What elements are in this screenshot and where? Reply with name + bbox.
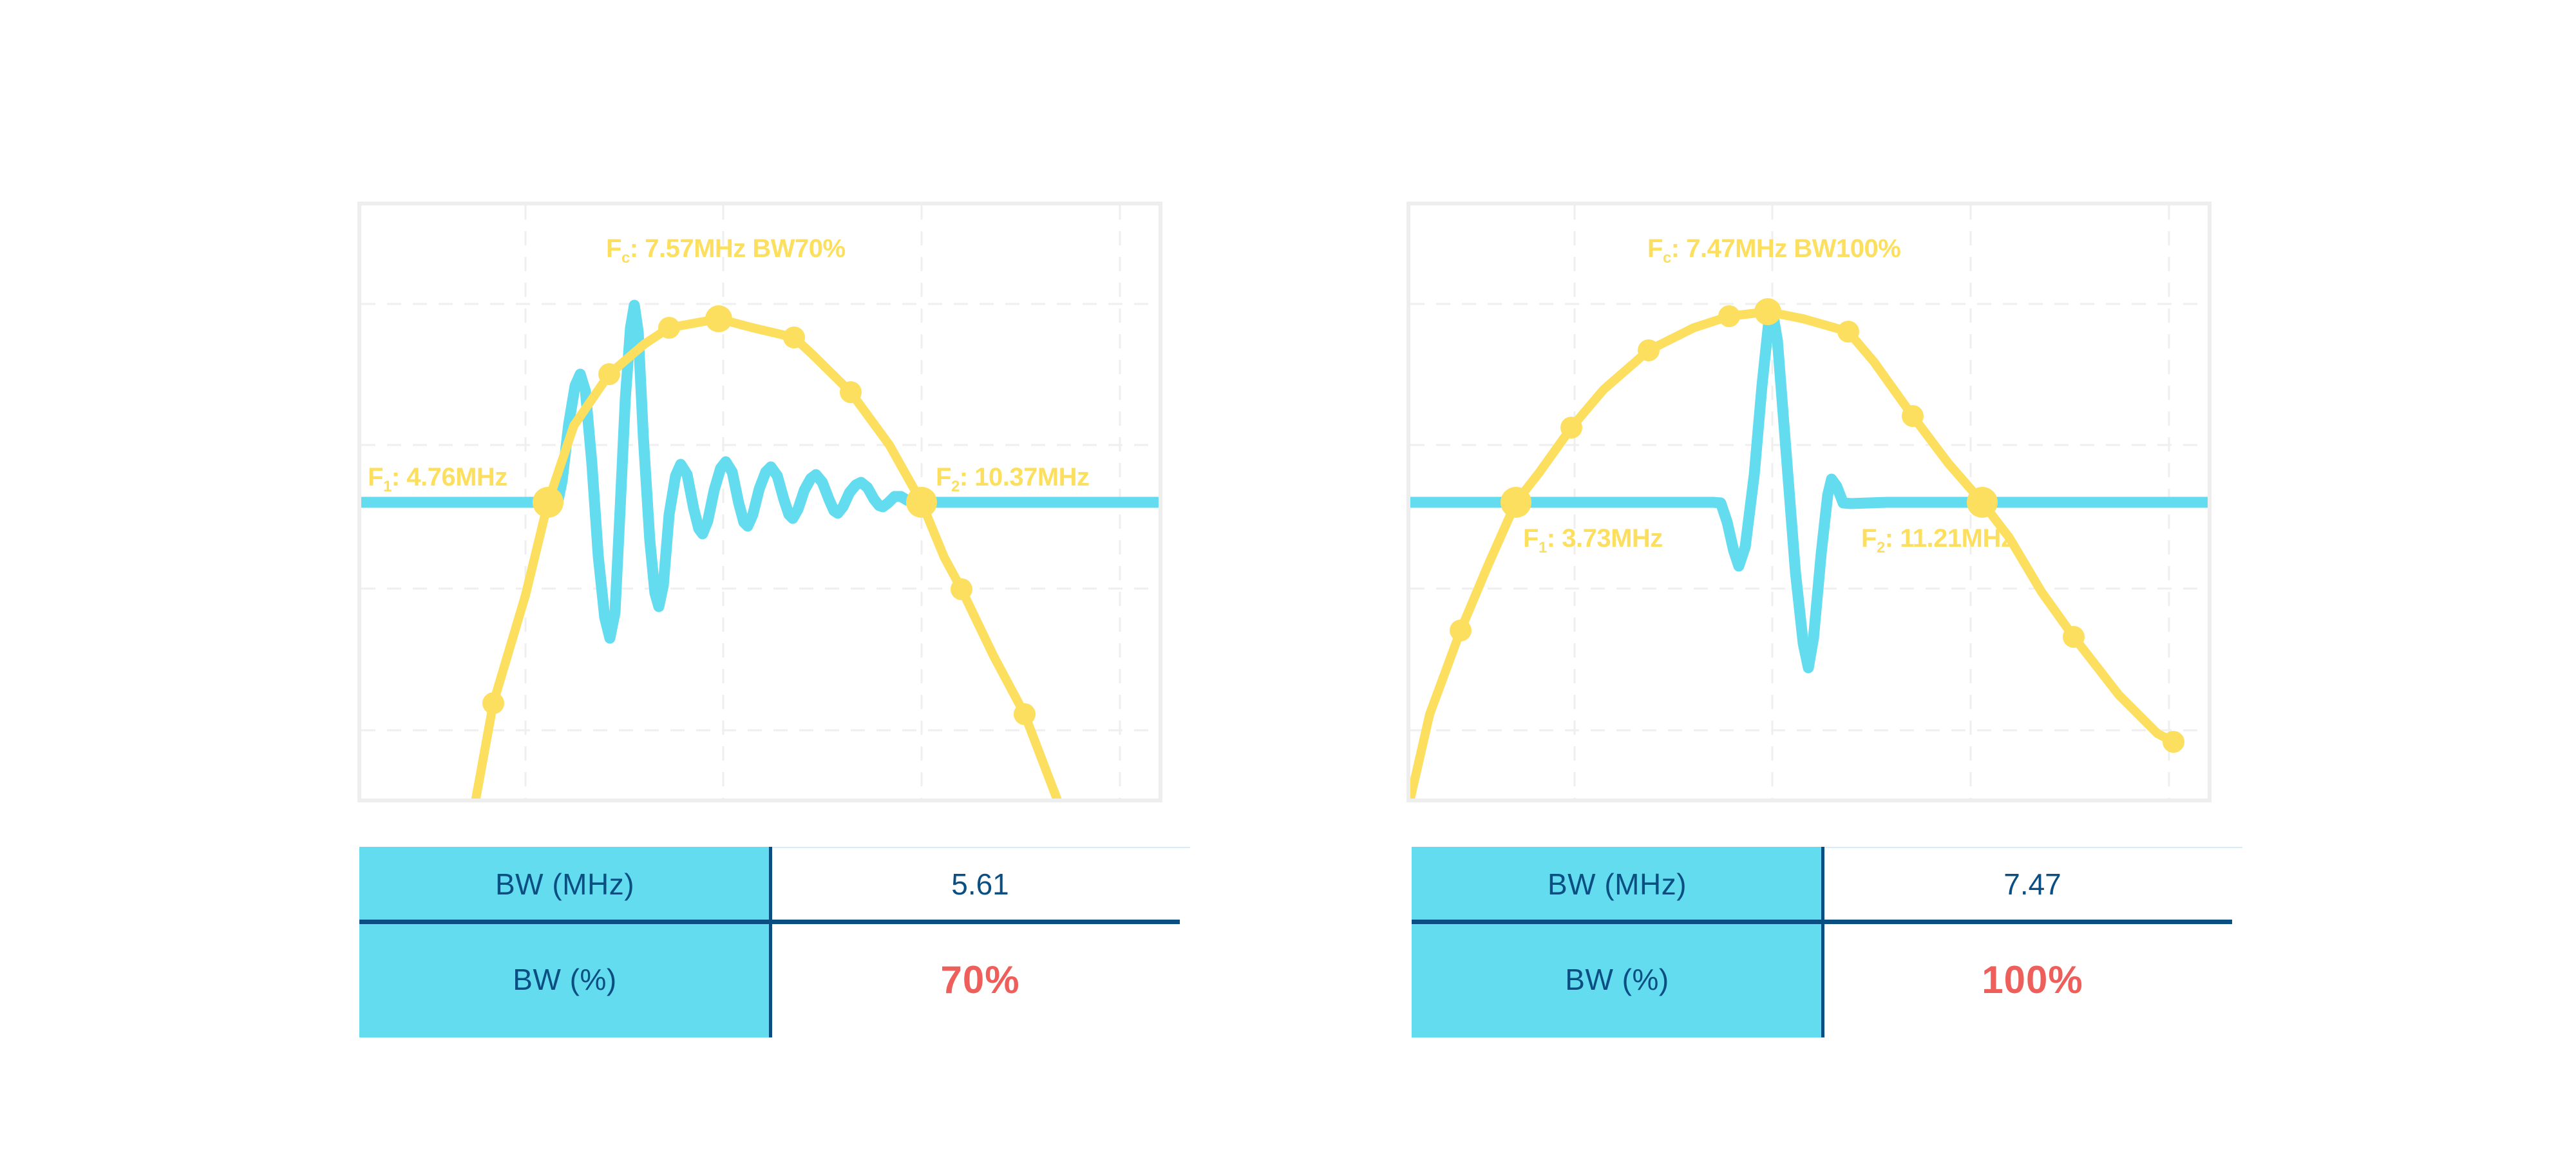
lower-cutoff-text: : 4.76MHz xyxy=(392,463,507,491)
bw-table-right: BW (MHz) 7.47 BW (%) 100% xyxy=(1412,847,2242,1040)
bw-pct-label-cell: BW (%) xyxy=(1412,922,1823,1037)
lower-cutoff-text: : 3.73MHz xyxy=(1547,524,1663,553)
upper-cutoff-label-left: F2: 10.37MHz xyxy=(936,463,1090,496)
table-top-hairline xyxy=(1823,847,2242,848)
lower-cutoff-prefix: F xyxy=(368,463,383,491)
bw-table-left: BW (MHz) 5.61 BW (%) 70% xyxy=(359,847,1190,1040)
bw-pct-label-cell: BW (%) xyxy=(359,922,770,1037)
plot-frame-left: Fc: 7.57MHz BW70% F1: 4.76MHz F2: 10.37M… xyxy=(357,202,1162,802)
bw-mhz-value-cell: 5.61 xyxy=(770,847,1190,922)
upper-cutoff-subscript: 2 xyxy=(1877,539,1885,556)
upper-cutoff-prefix: F xyxy=(1861,524,1877,553)
table-row: BW (%) 70% xyxy=(359,922,1190,1037)
lower-cutoff-subscript: 1 xyxy=(383,478,392,495)
lower-cutoff-label-right: F1: 3.73MHz xyxy=(1523,524,1663,557)
table-row: BW (MHz) 5.61 xyxy=(359,847,1190,922)
bw-mhz-label-cell: BW (MHz) xyxy=(359,847,770,922)
upper-cutoff-label-right: F2: 11.21MHz xyxy=(1861,524,2013,557)
table-row: BW (MHz) 7.47 xyxy=(1412,847,2242,922)
bw-pct-value-cell: 70% xyxy=(770,922,1190,1037)
plot-canvas-left xyxy=(361,205,1159,799)
center-frequency-label-left: Fc: 7.57MHz BW70% xyxy=(606,234,846,267)
center-frequency-prefix: F xyxy=(1647,234,1663,263)
center-frequency-text: : 7.57MHz BW70% xyxy=(630,234,846,263)
center-frequency-prefix: F xyxy=(606,234,621,263)
center-frequency-label-right: Fc: 7.47MHz BW100% xyxy=(1647,234,1900,267)
table-column-separator xyxy=(1821,847,1824,1037)
upper-cutoff-prefix: F xyxy=(936,463,951,491)
bw-mhz-label-cell: BW (MHz) xyxy=(1412,847,1823,922)
plot-canvas-right xyxy=(1410,205,2208,799)
upper-cutoff-text: : 10.37MHz xyxy=(960,463,1090,491)
spectrum-curve-left xyxy=(476,319,1057,799)
lower-cutoff-prefix: F xyxy=(1523,524,1539,553)
figure-root: Fc: 7.57MHz BW70% F1: 4.76MHz F2: 10.37M… xyxy=(0,0,2576,1154)
center-frequency-subscript: c xyxy=(1663,249,1671,267)
table-top-hairline xyxy=(770,847,1190,848)
bw-mhz-value-cell: 7.47 xyxy=(1823,847,2242,922)
spectrum-markers-left xyxy=(482,305,1036,725)
lower-cutoff-subscript: 1 xyxy=(1539,539,1547,556)
upper-cutoff-subscript: 2 xyxy=(951,478,960,495)
center-frequency-subscript: c xyxy=(621,249,630,267)
table-row: BW (%) 100% xyxy=(1412,922,2242,1037)
lower-cutoff-label-left: F1: 4.76MHz xyxy=(368,463,507,496)
table-column-separator xyxy=(769,847,772,1037)
plot-frame-right: Fc: 7.47MHz BW100% F1: 3.73MHz F2: 11.21… xyxy=(1406,202,2211,802)
center-frequency-text: : 7.47MHz BW100% xyxy=(1671,234,1901,263)
upper-cutoff-text: : 11.21MHz xyxy=(1885,524,2014,553)
bw-pct-value-cell: 100% xyxy=(1823,922,2242,1037)
